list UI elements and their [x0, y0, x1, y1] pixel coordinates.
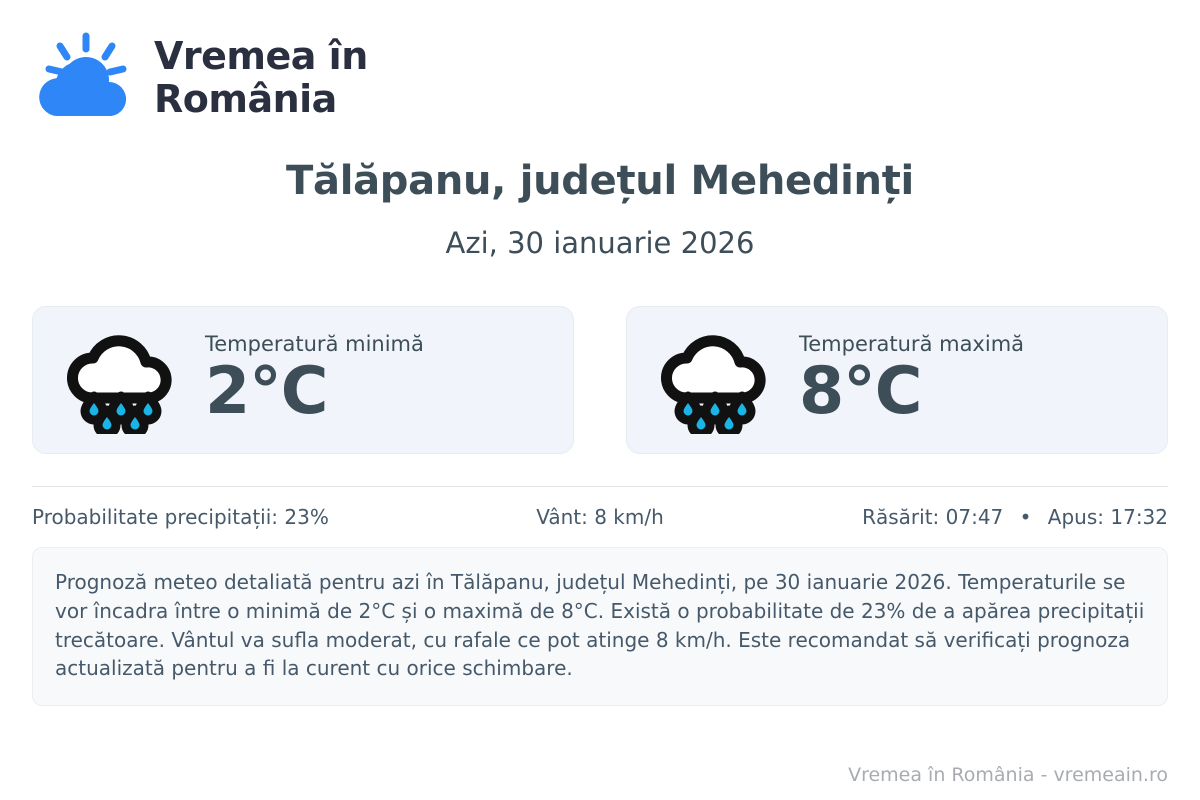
brand-name: Vremea în România: [154, 35, 368, 120]
rain-cloud-icon: [653, 326, 777, 434]
min-temperature-label: Temperatură minimă: [205, 333, 424, 356]
min-temperature-card: Temperatură minimă 2°C: [32, 306, 574, 454]
sunrise-value: Răsărit: 07:47: [862, 505, 1003, 529]
weather-stats-row: Probabilitate precipitații: 23% Vânt: 8 …: [32, 505, 1168, 529]
temperature-cards: Temperatură minimă 2°C: [32, 306, 1168, 454]
rain-cloud-icon: [59, 326, 183, 434]
max-temperature-text: Temperatură maximă 8°C: [799, 333, 1024, 427]
site-branding: Vremea în România: [32, 0, 1168, 110]
forecast-description: Prognoză meteo detaliată pentru azi în T…: [32, 547, 1168, 706]
sunset-value: Apus: 17:32: [1048, 505, 1168, 529]
page-title: Tălăpanu, județul Mehedinți: [32, 158, 1168, 204]
bullet-separator-icon: •: [1010, 505, 1042, 529]
page-subtitle: Azi, 30 ianuarie 2026: [32, 226, 1168, 260]
max-temperature-card: Temperatură maximă 8°C: [626, 306, 1168, 454]
sun-times-stat: Răsărit: 07:47 • Apus: 17:32: [789, 505, 1168, 529]
wind-stat: Vânt: 8 km/h: [411, 505, 790, 529]
footer-credit: Vremea în România - vremeain.ro: [848, 764, 1168, 786]
sun-behind-cloud-icon: [32, 30, 136, 126]
min-temperature-text: Temperatură minimă 2°C: [205, 333, 424, 427]
max-temperature-label: Temperatură maximă: [799, 333, 1024, 356]
max-temperature-value: 8°C: [799, 358, 1024, 427]
precipitation-stat: Probabilitate precipitații: 23%: [32, 505, 411, 529]
min-temperature-value: 2°C: [205, 358, 424, 427]
stats-divider: [32, 486, 1168, 487]
weather-page: Vremea în România Tălăpanu, județul Mehe…: [0, 0, 1200, 800]
